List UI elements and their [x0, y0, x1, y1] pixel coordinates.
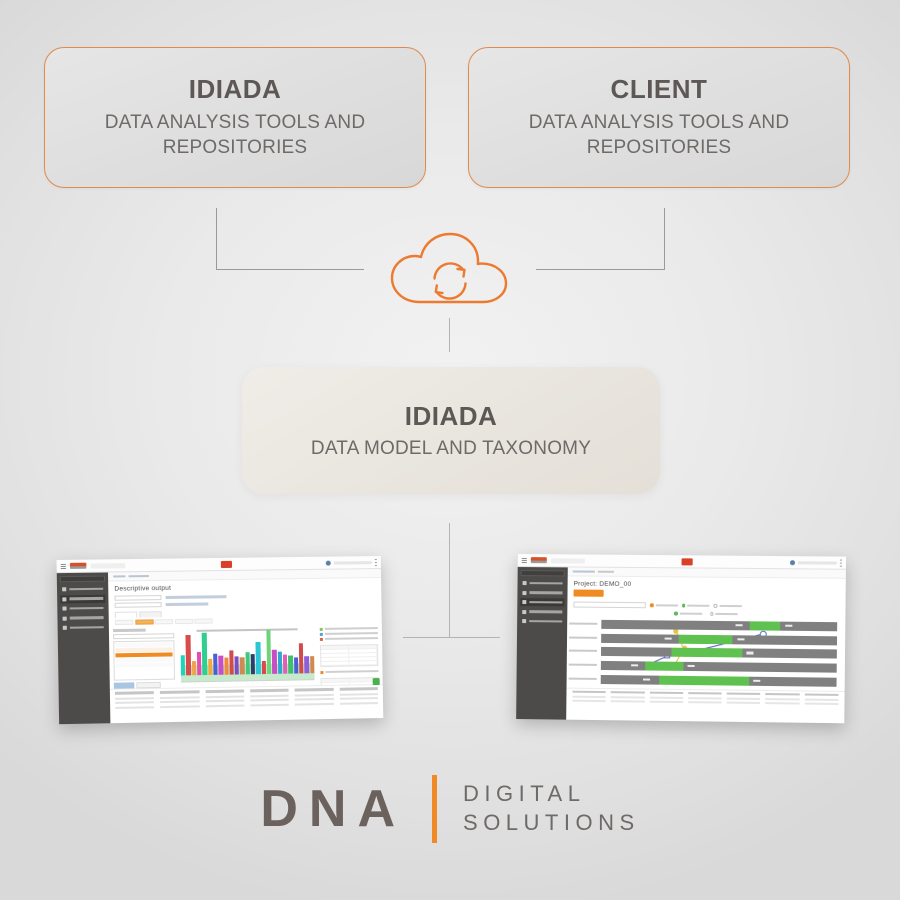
- chart-bar: [272, 650, 277, 674]
- panel-title: [113, 628, 146, 632]
- radio-icon: [682, 604, 686, 608]
- tab-sub-2[interactable]: [135, 619, 153, 624]
- table-header-row: [572, 691, 838, 697]
- connector-left-vertical: [216, 208, 217, 270]
- radio-icon: [650, 603, 654, 607]
- view-toggle-2[interactable]: [710, 612, 738, 616]
- more-options-icon[interactable]: [375, 559, 377, 566]
- dna-tagline: DIGITAL SOLUTIONS: [463, 782, 640, 835]
- chart-bar: [197, 652, 202, 675]
- chart-bar: [186, 635, 191, 675]
- chart-bar: [262, 661, 267, 674]
- user-name-label: [334, 561, 372, 564]
- company-logo-icon: [682, 558, 693, 565]
- avatar[interactable]: [790, 560, 795, 565]
- sidebar: [57, 573, 111, 725]
- chart-bar: [310, 657, 315, 674]
- gear-icon: [522, 619, 526, 623]
- box-model-title: IDIADA: [405, 401, 498, 432]
- book-icon: [522, 610, 526, 614]
- dna-logo: DNA DIGITAL SOLUTIONS: [0, 775, 900, 843]
- sidebar-item-reports[interactable]: [60, 614, 105, 623]
- box-idiada-subtitle-line2: REPOSITORIES: [163, 137, 308, 158]
- chart-bar: [181, 655, 186, 675]
- bar-chart[interactable]: [177, 633, 317, 688]
- cloud-sync-icon: [386, 228, 514, 308]
- box-client-title: CLIENT: [611, 75, 708, 104]
- chart-bar: [266, 630, 271, 674]
- box-idiada-tools: IDIADA DATA ANALYSIS TOOLS AND REPOSITOR…: [44, 47, 426, 188]
- sidebar: [516, 567, 568, 720]
- sidebar-item-data-explorer[interactable]: [520, 598, 564, 606]
- sidebar-item-projects[interactable]: [520, 589, 564, 597]
- variable-select[interactable]: [113, 633, 174, 639]
- sidebar-item-home[interactable]: [521, 579, 565, 587]
- scenario-select[interactable]: [573, 602, 645, 609]
- chart-bar: [235, 656, 240, 675]
- gantt-row-label: [569, 663, 597, 666]
- legend-swatch: [320, 627, 323, 630]
- screenshot-data-analysis[interactable]: Descriptive output: [57, 556, 384, 724]
- brand-logo: [70, 563, 87, 569]
- gantt-row-label: [569, 622, 597, 624]
- connector-left-horizontal: [216, 269, 364, 270]
- connector-screenshots-horizontal: [403, 637, 500, 638]
- radio-icon: [713, 604, 717, 608]
- bar-chart-panel: [177, 625, 317, 687]
- primary-action-button[interactable]: [573, 590, 603, 597]
- gantt-row-label: [569, 650, 597, 652]
- box-idiada-subtitle-line1: DATA ANALYSIS TOOLS AND: [105, 112, 366, 133]
- tab-sub-3[interactable]: [155, 619, 173, 624]
- box-client-subtitle: DATA ANALYSIS TOOLS AND REPOSITORIES: [529, 110, 790, 160]
- search-input[interactable]: [90, 563, 125, 568]
- gear-icon: [63, 626, 67, 630]
- gantt-segment: [679, 634, 733, 644]
- dna-tagline-line1: DIGITAL: [463, 782, 640, 807]
- screenshot-project-gantt[interactable]: Project: DEMO_00: [516, 554, 846, 723]
- chart-bar: [224, 657, 229, 675]
- gantt-segment: [749, 621, 780, 630]
- tab-sub-4[interactable]: [175, 618, 193, 623]
- chart-bar: [240, 658, 245, 675]
- home-icon: [62, 587, 66, 591]
- dna-tagline-line2: SOLUTIONS: [463, 811, 640, 836]
- gantt-row[interactable]: [601, 620, 837, 631]
- filter-select-1[interactable]: [115, 595, 162, 601]
- chart-bar: [229, 651, 234, 675]
- box-data-model: IDIADA DATA MODEL AND TAXONOMY: [242, 367, 660, 494]
- variable-list[interactable]: [113, 640, 175, 681]
- gantt-chart[interactable]: [567, 616, 846, 691]
- database-icon: [522, 600, 526, 604]
- chart-bar: [277, 652, 282, 674]
- legend-swatch: [320, 671, 323, 674]
- radio-option-2[interactable]: [682, 604, 710, 608]
- filter-link-2[interactable]: [166, 603, 209, 606]
- search-input[interactable]: [551, 558, 585, 563]
- connector-right-horizontal: [536, 269, 665, 270]
- legend-item: [320, 670, 378, 674]
- gantt-row[interactable]: [601, 661, 837, 673]
- variable-selector-panel: [113, 628, 175, 689]
- box-client-tools: CLIENT DATA ANALYSIS TOOLS AND REPOSITOR…: [468, 47, 850, 188]
- filter-select-2[interactable]: [115, 602, 162, 608]
- box-idiada-title: IDIADA: [189, 75, 282, 104]
- radio-option-1[interactable]: [650, 603, 678, 607]
- legend-item: [320, 637, 378, 641]
- chart-bar: [304, 656, 309, 674]
- chart-bar: [208, 659, 213, 675]
- sidebar-item-settings[interactable]: [61, 623, 106, 632]
- stats-table: [320, 644, 378, 667]
- more-options-icon[interactable]: [840, 559, 842, 566]
- hamburger-icon[interactable]: [522, 558, 527, 563]
- export-excel-icon[interactable]: [373, 678, 380, 685]
- folder-icon: [522, 591, 526, 595]
- box-idiada-subtitle: DATA ANALYSIS TOOLS AND REPOSITORIES: [105, 110, 366, 160]
- sidebar-item-analysis[interactable]: [60, 604, 105, 613]
- user-name-label: [798, 561, 837, 564]
- radio-icon: [710, 612, 714, 616]
- sidebar-search-input[interactable]: [60, 576, 105, 583]
- gantt-row-label: [569, 636, 597, 638]
- report-icon: [63, 616, 67, 620]
- folder-icon: [62, 597, 66, 601]
- tab-sub-5[interactable]: [194, 618, 212, 623]
- brand-logo: [531, 557, 547, 563]
- results-table: [110, 684, 383, 723]
- tab-sub-1[interactable]: [115, 619, 133, 624]
- legend-swatch: [320, 637, 323, 640]
- chart-bar: [213, 654, 218, 675]
- chart-bar: [256, 642, 261, 674]
- chart-bar: [288, 655, 293, 674]
- page-title: Project: DEMO_00: [568, 576, 846, 592]
- chart-bar: [251, 654, 256, 674]
- sidebar-item-admin[interactable]: [520, 617, 564, 625]
- chart-bar: [218, 655, 223, 675]
- gantt-row-label: [569, 677, 597, 680]
- legend-item: [320, 632, 378, 636]
- box-model-subtitle: DATA MODEL AND TAXONOMY: [311, 438, 591, 460]
- avatar[interactable]: [326, 560, 331, 565]
- chart-bar: [245, 652, 250, 674]
- chart-bar: [202, 632, 207, 675]
- legend-item: [320, 627, 378, 631]
- chart-title: [197, 628, 297, 632]
- filter-link-1[interactable]: [166, 595, 227, 598]
- connector-right-vertical: [664, 208, 665, 270]
- chart-bar: [192, 661, 197, 675]
- gantt-details-table: [566, 688, 844, 724]
- chart-icon: [62, 606, 66, 610]
- gantt-segment: [645, 661, 683, 670]
- legend-stats-panel: [320, 625, 379, 686]
- sidebar-search-input[interactable]: [521, 570, 565, 576]
- connector-model-down: [449, 523, 450, 638]
- chart-bar: [294, 658, 299, 674]
- dna-wordmark: DNA: [260, 783, 406, 835]
- table-row: [321, 661, 377, 666]
- radio-icon: [674, 612, 678, 616]
- gantt-row[interactable]: [601, 675, 837, 687]
- list-item[interactable]: [116, 662, 173, 667]
- view-toggle-1[interactable]: [674, 612, 702, 616]
- gantt-row[interactable]: [601, 647, 837, 659]
- chart-bar: [299, 643, 304, 674]
- hamburger-icon[interactable]: [61, 563, 66, 568]
- home-icon: [523, 581, 527, 585]
- box-client-subtitle-line2: REPOSITORIES: [587, 137, 732, 158]
- sidebar-item-home[interactable]: [60, 585, 105, 594]
- sidebar-item-projects[interactable]: [60, 594, 105, 603]
- gantt-segment: [659, 675, 749, 685]
- gantt-row[interactable]: [601, 633, 837, 645]
- box-client-subtitle-line1: DATA ANALYSIS TOOLS AND: [529, 112, 790, 133]
- connector-cloud-to-model: [449, 318, 450, 352]
- legend-swatch: [320, 632, 323, 635]
- chart-bar: [283, 654, 288, 673]
- sidebar-item-library[interactable]: [520, 608, 564, 616]
- gantt-segment: [671, 648, 742, 658]
- radio-option-3[interactable]: [713, 604, 741, 608]
- logo-divider: [432, 775, 437, 843]
- company-logo-icon: [220, 560, 231, 567]
